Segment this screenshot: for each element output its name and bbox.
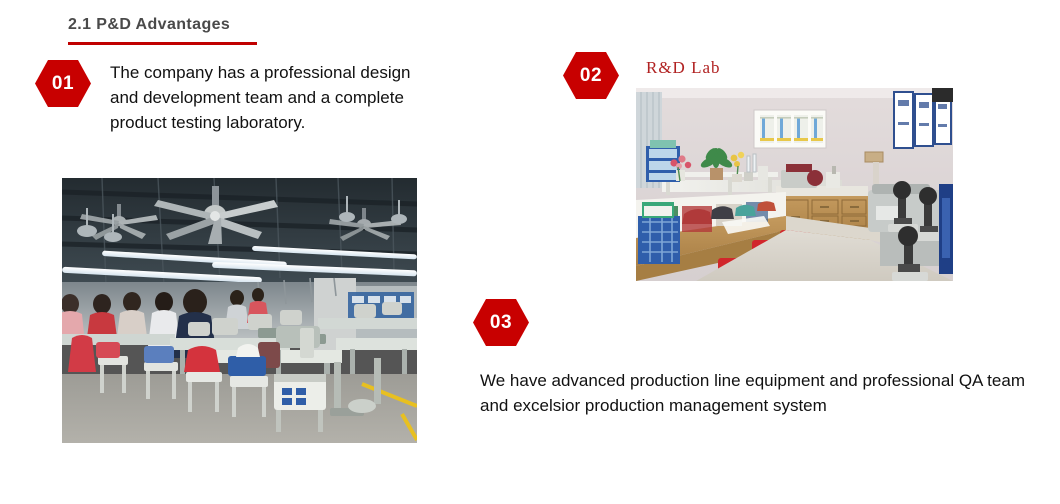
step-badge-01-label: 01: [52, 74, 74, 93]
page-title: 2.1 P&D Advantages: [68, 16, 257, 34]
rd-lab-photo-illustration: [636, 88, 953, 281]
rd-lab-caption: R&D Lab: [646, 58, 721, 78]
step-badge-03-label: 03: [490, 313, 512, 332]
step-badge-01: 01: [34, 59, 92, 108]
step-badge-02-label: 02: [580, 66, 602, 85]
rd-lab-photo: [636, 88, 953, 281]
block-03-text: We have advanced production line equipme…: [480, 368, 1025, 418]
factory-photo: [62, 178, 417, 443]
slide-root: 2.1 P&D Advantages 01 The company has a …: [0, 0, 1060, 504]
step-badge-03: 03: [472, 298, 530, 347]
factory-photo-illustration: [62, 178, 417, 443]
step-badge-02: 02: [562, 51, 620, 100]
section-heading: 2.1 P&D Advantages: [68, 16, 257, 45]
block-01-text: The company has a professional design an…: [110, 60, 425, 135]
heading-underline-rule: [68, 42, 257, 45]
